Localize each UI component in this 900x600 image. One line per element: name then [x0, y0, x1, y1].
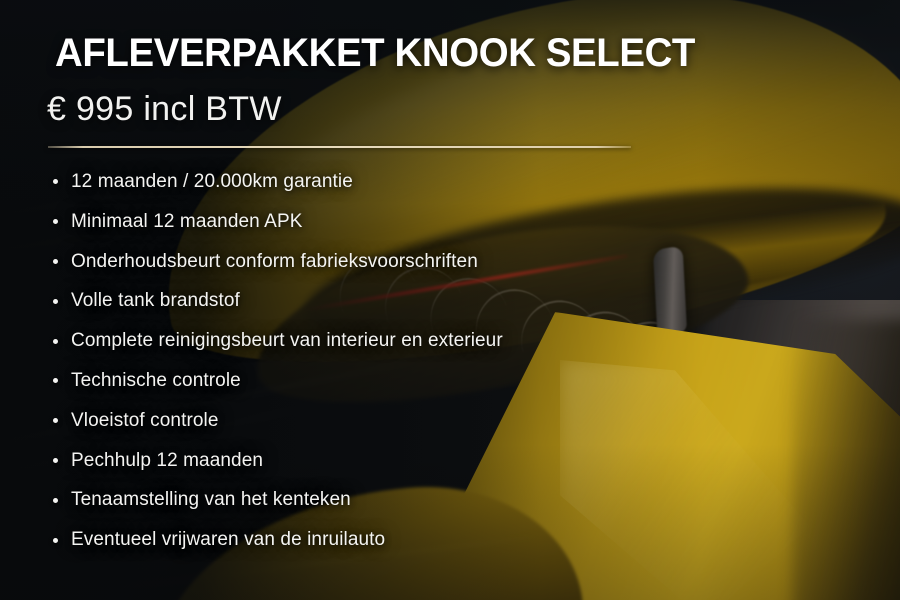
feature-text: Onderhoudsbeurt conform fabrieksvoorschr… [71, 251, 478, 272]
list-item: Onderhoudsbeurt conform fabrieksvoorschr… [47, 242, 687, 282]
feature-text: Tenaamstelling van het kenteken [71, 489, 351, 510]
feature-text: Eventueel vrijwaren van de inruilauto [71, 529, 385, 550]
bullet-icon [53, 498, 58, 503]
feature-text: Complete reinigingsbeurt van interieur e… [71, 330, 503, 351]
banner-content: AFLEVERPAKKET KNOOK SELECT € 995 incl BT… [0, 0, 900, 600]
feature-text: Minimaal 12 maanden APK [71, 211, 303, 232]
feature-text: 12 maanden / 20.000km garantie [71, 171, 353, 192]
feature-text: Pechhulp 12 maanden [71, 450, 263, 471]
feature-list: 12 maanden / 20.000km garantie Minimaal … [47, 162, 687, 560]
bullet-icon [53, 418, 58, 423]
bullet-icon [53, 299, 58, 304]
divider [48, 146, 631, 148]
bullet-icon [53, 458, 58, 463]
price-label: € 995 incl BTW [47, 92, 282, 126]
bullet-icon [53, 219, 58, 224]
page-title: AFLEVERPAKKET KNOOK SELECT [55, 33, 695, 73]
list-item: Vloeistof controle [47, 401, 687, 441]
feature-text: Volle tank brandstof [71, 290, 240, 311]
delivery-package-banner: AFLEVERPAKKET KNOOK SELECT € 995 incl BT… [0, 0, 900, 600]
bullet-icon [53, 179, 58, 184]
bullet-icon [53, 259, 58, 264]
list-item: Pechhulp 12 maanden [47, 441, 687, 481]
list-item: Eventueel vrijwaren van de inruilauto [47, 520, 687, 560]
list-item: 12 maanden / 20.000km garantie [47, 162, 687, 202]
feature-text: Vloeistof controle [71, 410, 219, 431]
bullet-icon [53, 339, 58, 344]
list-item: Volle tank brandstof [47, 281, 687, 321]
list-item: Tenaamstelling van het kenteken [47, 480, 687, 520]
list-item: Complete reinigingsbeurt van interieur e… [47, 321, 687, 361]
list-item: Technische controle [47, 361, 687, 401]
bullet-icon [53, 538, 58, 543]
feature-text: Technische controle [71, 370, 241, 391]
bullet-icon [53, 378, 58, 383]
list-item: Minimaal 12 maanden APK [47, 202, 687, 242]
